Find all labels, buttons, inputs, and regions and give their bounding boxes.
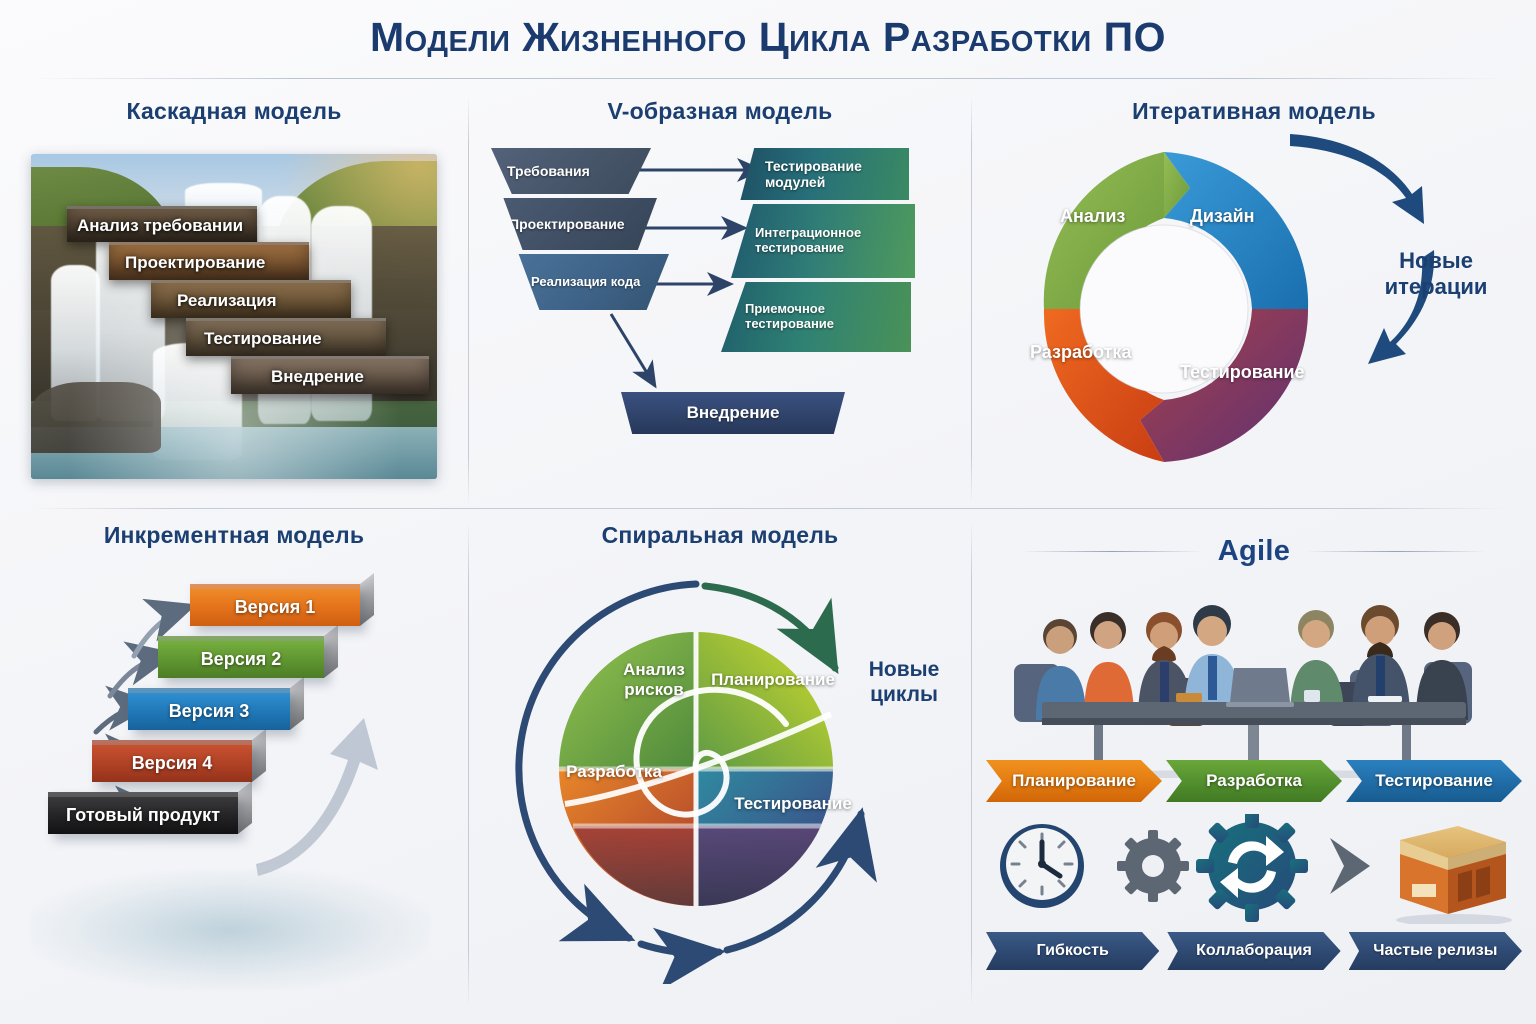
incremental-arrow-layer [0, 564, 468, 1004]
agile-rule-left [1022, 551, 1202, 552]
vmodel-diagram: Требования Проектирование Реализация код… [469, 138, 971, 498]
agile-rule-right [1306, 551, 1486, 552]
agile-tag-collaboration: Коллаборация [1167, 932, 1340, 970]
agile-chevron-testing: Тестирование [1346, 760, 1522, 802]
vmodel-right-block: Интеграционное тестирование [731, 204, 915, 278]
iterative-side-note: Новые итерации [1356, 248, 1516, 300]
panel-title-vmodel: V-образная модель [469, 98, 971, 125]
spiral-quadrant-planning [696, 632, 833, 769]
incremental-growth-arrow [256, 718, 378, 876]
spiral-label-development: Разработка [549, 762, 679, 782]
waterfall-step: Реализация [151, 280, 351, 318]
agile-header: Agile [972, 532, 1536, 570]
vmodel-left-block: Реализация кода [509, 254, 669, 310]
agile-tag-frequent-releases: Частые релизы [1349, 932, 1522, 970]
spiral-diagram: Анализ рисков Планирование Разработка Те… [491, 564, 911, 984]
panel-title-spiral: Спиральная модель [469, 522, 971, 549]
waterfall-step: Анализ требовании [67, 206, 257, 242]
agile-team-illustration [998, 578, 1510, 778]
clock-icon [1000, 824, 1084, 908]
agile-phase-chevrons: Планирование Разработка Тестирование [986, 760, 1522, 802]
vmodel-deploy-arrow [611, 314, 655, 386]
iterative-label-development: Разработка [1030, 342, 1131, 363]
panel-title-waterfall: Каскадная модель [0, 98, 468, 125]
title-divider [30, 78, 1506, 79]
vmodel-left-block: Проектирование [497, 198, 657, 250]
agile-papers [1368, 696, 1402, 702]
waterfall-step: Тестирование [186, 318, 386, 356]
agile-benefit-tags: Гибкость Коллаборация Частые релизы [986, 932, 1522, 970]
agile-laptop [1226, 668, 1294, 707]
panel-incremental-model: Инкрементная модель Версия 1 Версия 2 Ве… [0, 522, 468, 1022]
spiral-label-testing: Тестирование [723, 794, 863, 814]
panel-title-agile: Agile [1218, 535, 1290, 568]
waterfall-step: Проектирование [109, 242, 309, 280]
waterfall-photo: Анализ требовании Проектирование Реализа… [31, 154, 437, 479]
agile-icon-row [986, 814, 1522, 924]
spiral-label-risk: Анализ рисков [599, 660, 709, 700]
panel-waterfall-model: Каскадная модель Анализ требовании Проек… [0, 98, 468, 506]
agile-cup [1304, 690, 1320, 702]
vmodel-bottom-block: Внедрение [621, 392, 845, 434]
panel-agile-model: Agile [972, 522, 1536, 1022]
vmodel-right-block: Приемочное тестирование [721, 282, 911, 352]
agile-chevron-development: Разработка [1166, 760, 1342, 802]
incremental-block: Версия 4 [92, 740, 252, 782]
incremental-block: Готовый продукт [48, 792, 238, 834]
panel-title-iterative: Итеративная модель [972, 98, 1536, 125]
incremental-block: Версия 2 [158, 636, 324, 678]
incremental-block: Версия 1 [190, 584, 360, 626]
vmodel-right-block: Тестирование модулей [737, 148, 909, 200]
panel-spiral-model: Спиральная модель [469, 522, 971, 1022]
agile-tag-flexibility: Гибкость [986, 932, 1159, 970]
page-title: Модели Жизненного Цикла Разработки ПО [0, 14, 1536, 61]
iterative-label-analysis: Анализ [1060, 206, 1125, 227]
spiral-label-planning: Планирование [703, 670, 843, 690]
spiral-outer-arrow-bottom [641, 944, 719, 953]
agile-chevron-planning: Планирование [986, 760, 1162, 802]
grid-divider-horizontal [30, 508, 1506, 509]
gear-refresh-icon [1196, 814, 1308, 922]
iterative-label-design: Дизайн [1190, 206, 1255, 227]
agile-notebook [1176, 693, 1202, 702]
panel-iterative-model: Итеративная модель [972, 98, 1536, 506]
arrow-right-icon [1330, 838, 1370, 894]
vmodel-left-block: Требования [491, 148, 651, 194]
new-iterations-arrow-top [1290, 134, 1424, 224]
package-box-icon [1396, 826, 1512, 924]
waterfall-step: Внедрение [231, 356, 429, 394]
incremental-block: Версия 3 [128, 688, 290, 730]
panel-v-model: V-образная модель Требования Проектирова… [469, 98, 971, 506]
incremental-diagram: Версия 1 Версия 2 Версия 3 Версия 4 Гото… [0, 564, 468, 1004]
panel-title-incremental: Инкрементная модель [0, 522, 468, 549]
spiral-side-note: Новые циклы [839, 658, 969, 708]
gear-small-icon [1117, 830, 1189, 902]
